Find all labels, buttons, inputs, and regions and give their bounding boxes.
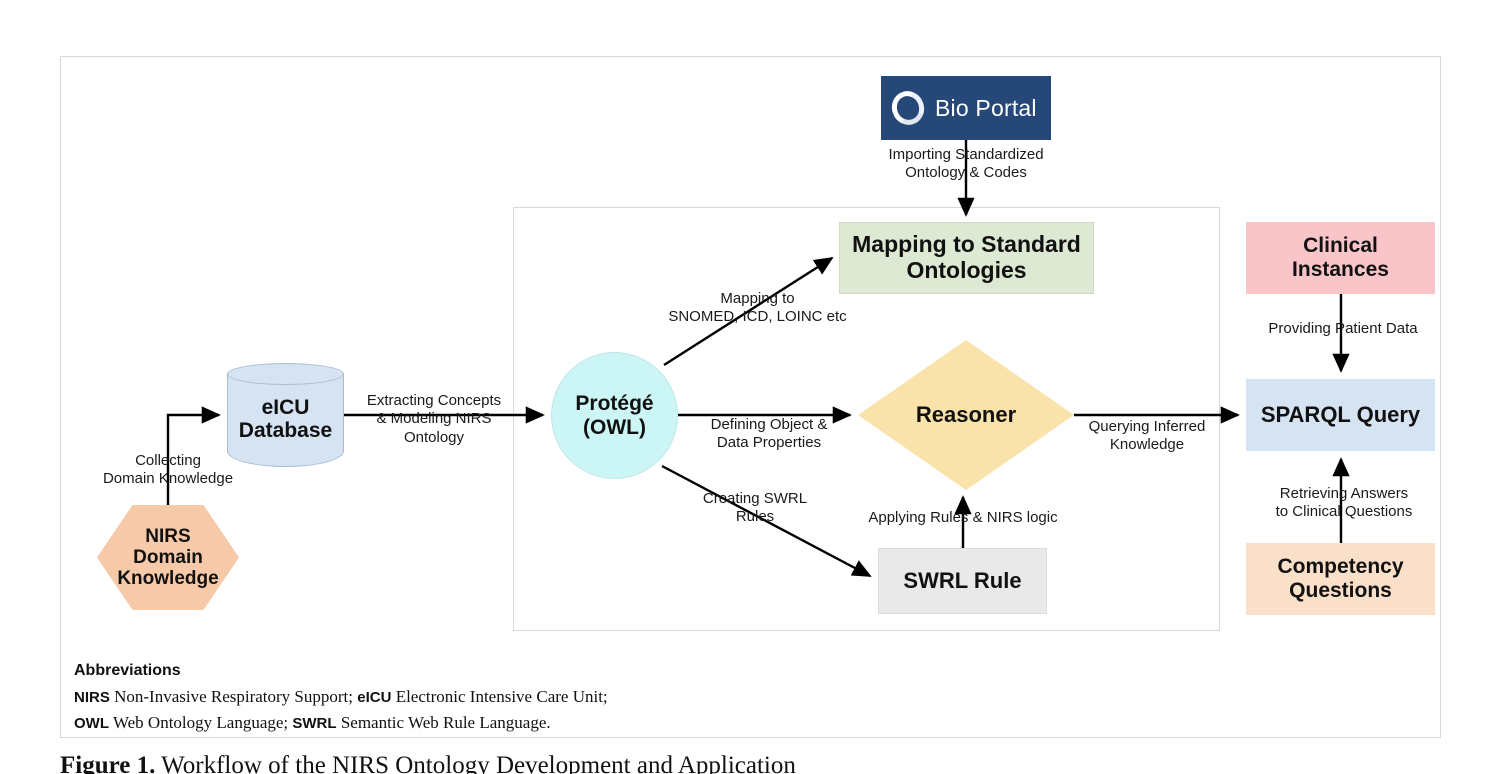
edge-label-extracting-concepts: Extracting Concepts & Modeling NIRS Onto… (353, 392, 515, 447)
node-reasoner: Reasoner (858, 340, 1074, 490)
edge-label-collecting-domain-knowledge: Collecting Domain Knowledge (88, 452, 248, 489)
edge-label-importing-standardized-ontology: Importing Standardized Ontology & Codes (876, 146, 1056, 183)
bioportal-label: Bio Portal (935, 95, 1037, 122)
abbrev-def-nirs: Non-Invasive Respiratory Support; (110, 687, 357, 706)
node-nirs-domain-knowledge: NIRS Domain Knowledge (97, 505, 239, 610)
abbreviations-line-2: OWL Web Ontology Language; SWRL Semantic… (74, 710, 974, 736)
node-swrl-rule: SWRL Rule (878, 548, 1047, 614)
figure-caption-label: Figure 1. (60, 752, 155, 774)
bioportal-logo: Bio Portal (881, 76, 1051, 140)
abbreviations-line-1: NIRS Non-Invasive Respiratory Support; e… (74, 684, 974, 710)
edge-label-defining-object-data-properties: Defining Object & Data Properties (694, 416, 844, 453)
figure-caption-text: Workflow of the NIRS Ontology Developmen… (155, 752, 796, 774)
node-clinical-instances: Clinical Instances (1246, 222, 1435, 294)
edge-label-providing-patient-data: Providing Patient Data (1252, 320, 1434, 338)
node-protege: Protégé (OWL) (551, 352, 678, 479)
node-nirs-domain-knowledge-label: NIRS Domain Knowledge (97, 505, 239, 610)
abbrev-def-swrl: Semantic Web Rule Language. (337, 713, 551, 732)
abbrev-term-nirs: NIRS (74, 689, 110, 706)
figure-canvas: Bio Portal Mapping to Standard Ontologie… (0, 0, 1501, 774)
abbrev-term-swrl: SWRL (292, 715, 336, 732)
node-reasoner-label: Reasoner (858, 340, 1074, 490)
edge-label-mapping-to-snomed: Mapping to SNOMED, ICD, LOINC etc (650, 290, 865, 327)
figure-caption: Figure 1. Workflow of the NIRS Ontology … (60, 752, 1440, 774)
bioportal-ring-icon (889, 89, 927, 127)
edge-label-retrieving-answers: Retrieving Answers to Clinical Questions (1252, 485, 1436, 522)
edge-label-querying-inferred-knowledge: Querying Inferred Knowledge (1072, 418, 1222, 455)
abbrev-term-eicu: eICU (357, 689, 391, 706)
abbreviations-title: Abbreviations (74, 662, 974, 680)
node-competency-questions: Competency Questions (1246, 543, 1435, 615)
node-sparql-query: SPARQL Query (1246, 379, 1435, 451)
abbrev-def-owl: Web Ontology Language; (109, 713, 292, 732)
edge-label-creating-swrl-rules: Creating SWRL Rules (685, 490, 825, 527)
node-mapping-to-standard-ontologies: Mapping to Standard Ontologies (839, 222, 1094, 294)
abbreviations-block: Abbreviations NIRS Non-Invasive Respirat… (74, 662, 974, 737)
abbrev-term-owl: OWL (74, 715, 109, 732)
edge-label-applying-rules-nirs-logic: Applying Rules & NIRS logic (862, 509, 1064, 527)
abbrev-def-eicu: Electronic Intensive Care Unit; (391, 687, 607, 706)
